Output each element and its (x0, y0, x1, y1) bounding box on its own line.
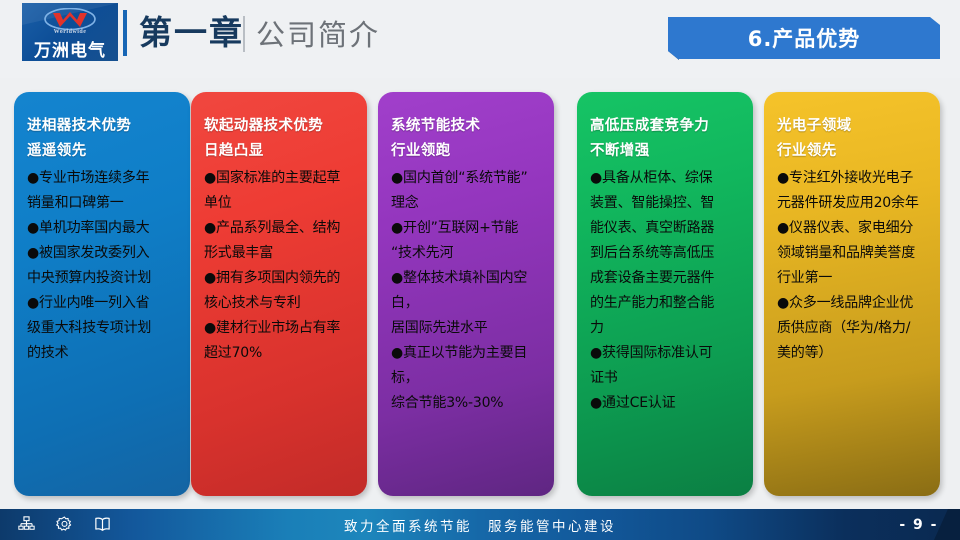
advantage-card[interactable]: 高低压成套竞争力 不断增强 ●具备从柜体、综保装置、智能操控、智能仪表、真空断路… (577, 92, 753, 496)
card-body-line: ●建材行业市场占有率 (204, 316, 356, 341)
card-body-line: ●专注红外接收光电子 (777, 166, 929, 191)
card-body-line: 级重大科技专项计划 (27, 316, 179, 341)
card-title-line2: 日趋凸显 (204, 139, 356, 164)
card-body-line: 到后台系统等高低压 (590, 241, 742, 266)
card-title-line2: 行业领先 (777, 139, 929, 164)
card-body-line: ●专业市场连续多年 (27, 166, 179, 191)
slide-footer: 致力全面系统节能 服务能管中心建设 - 9 - (0, 509, 960, 540)
card-body-line: 质供应商（华为/格力/ (777, 316, 929, 341)
card-title-line2: 不断增强 (590, 139, 742, 164)
card-body-line: ●产品系列最全、结构 (204, 216, 356, 241)
advantage-card[interactable]: 光电子领域 行业领先 ●专注红外接收光电子元器件研发应用20余年●仪器仪表、家电… (764, 92, 940, 496)
page-number: - 9 - (899, 509, 938, 540)
card-body-line: 的技术 (27, 341, 179, 366)
card-body-line: 行业第一 (777, 266, 929, 291)
card-body-line: 形式最丰富 (204, 241, 356, 266)
card-body-line: 单位 (204, 191, 356, 216)
header-divider (243, 16, 245, 52)
card-body-line: ●单机功率国内最大 (27, 216, 179, 241)
card-title-line1: 高低压成套竞争力 (590, 114, 742, 139)
card-body-line: ●具备从柜体、综保 (590, 166, 742, 191)
card-title: 进相器技术优势 遥遥领先 (27, 114, 179, 164)
advantage-card-list: 进相器技术优势 遥遥领先 ●专业市场连续多年销量和口碑第一●单机功率国内最大●被… (0, 92, 960, 504)
footer-slogan: 致力全面系统节能 服务能管中心建设 (0, 509, 960, 540)
card-body-line: 综合节能3%-30% (391, 391, 543, 416)
card-body-line: “技术先河 (391, 241, 543, 266)
card-body-line: 成套设备主要元器件 (590, 266, 742, 291)
card-body-line: ●被国家发改委列入 (27, 241, 179, 266)
card-body-line: 理念 (391, 191, 543, 216)
card-body-line: 核心技术与专利 (204, 291, 356, 316)
advantage-card[interactable]: 系统节能技术 行业领跑 ●国内首创“系统节能”理念●开创”互联网+节能“技术先河… (378, 92, 554, 496)
card-body-line: 美的等） (777, 341, 929, 366)
card-title-line2: 行业领跑 (391, 139, 543, 164)
card-body-line: 元器件研发应用20余年 (777, 191, 929, 216)
card-body-line: 力 (590, 316, 742, 341)
company-logo: Worldwide 万洲电气 (22, 3, 118, 61)
card-body-line: 中央预算内投资计划 (27, 266, 179, 291)
advantage-card[interactable]: 进相器技术优势 遥遥领先 ●专业市场连续多年销量和口碑第一●单机功率国内最大●被… (14, 92, 190, 496)
card-body: ●专注红外接收光电子元器件研发应用20余年●仪器仪表、家电细分领域销量和品牌美誉… (777, 166, 929, 366)
logo-brand-en: Worldwide (22, 29, 118, 35)
card-body-line: 销量和口碑第一 (27, 191, 179, 216)
card-body-line: 能仪表、真空断路器 (590, 216, 742, 241)
card-body: ●具备从柜体、综保装置、智能操控、智能仪表、真空断路器到后台系统等高低压成套设备… (590, 166, 742, 416)
card-body: ●国家标准的主要起草单位●产品系列最全、结构形式最丰富●拥有多项国内领先的核心技… (204, 166, 356, 366)
card-body-line: 超过70% (204, 341, 356, 366)
card-title-line1: 光电子领域 (777, 114, 929, 139)
card-body-line: 的生产能力和整合能 (590, 291, 742, 316)
slide-header: Worldwide 万洲电气 第一章 公司简介 6.产品优势 (0, 0, 960, 78)
card-body-line: ●众多一线品牌企业优 (777, 291, 929, 316)
card-title: 高低压成套竞争力 不断增强 (590, 114, 742, 164)
page-subtitle: 公司简介 (256, 15, 380, 55)
card-body-line: ●开创”互联网+节能 (391, 216, 543, 241)
chapter-title: 第一章 (139, 12, 244, 54)
card-body-line: 证书 (590, 366, 742, 391)
advantage-card[interactable]: 软起动器技术优势 日趋凸显 ●国家标准的主要起草单位●产品系列最全、结构形式最丰… (191, 92, 367, 496)
section-ribbon-title: 6.产品优势 (668, 17, 940, 59)
card-body-line: 领域销量和品牌美誉度 (777, 241, 929, 266)
card-body-line: ●行业内唯一列入省 (27, 291, 179, 316)
card-body-line: ●获得国际标准认可 (590, 341, 742, 366)
card-title: 光电子领域 行业领先 (777, 114, 929, 164)
card-body-line: ●国内首创“系统节能” (391, 166, 543, 191)
card-body-line: ●国家标准的主要起草 (204, 166, 356, 191)
card-body-line: ●真正以节能为主要目标， (391, 341, 543, 391)
card-title: 系统节能技术 行业领跑 (391, 114, 543, 164)
card-title-line2: 遥遥领先 (27, 139, 179, 164)
card-title-line1: 进相器技术优势 (27, 114, 179, 139)
card-body: ●国内首创“系统节能”理念●开创”互联网+节能“技术先河●整体技术填补国内空白，… (391, 166, 543, 416)
card-body-line: 装置、智能操控、智 (590, 191, 742, 216)
card-body-line: ●拥有多项国内领先的 (204, 266, 356, 291)
card-body-line: ●整体技术填补国内空白， (391, 266, 543, 316)
card-title: 软起动器技术优势 日趋凸显 (204, 114, 356, 164)
card-body-line: ●通过CE认证 (590, 391, 742, 416)
w-emblem-icon (44, 8, 96, 30)
header-accent-bar (123, 10, 127, 56)
card-body: ●专业市场连续多年销量和口碑第一●单机功率国内最大●被国家发改委列入中央预算内投… (27, 166, 179, 366)
card-body-line: ●仪器仪表、家电细分 (777, 216, 929, 241)
logo-brand-cn: 万洲电气 (22, 36, 118, 61)
card-body-line: 居国际先进水平 (391, 316, 543, 341)
card-title-line1: 系统节能技术 (391, 114, 543, 139)
card-title-line1: 软起动器技术优势 (204, 114, 356, 139)
